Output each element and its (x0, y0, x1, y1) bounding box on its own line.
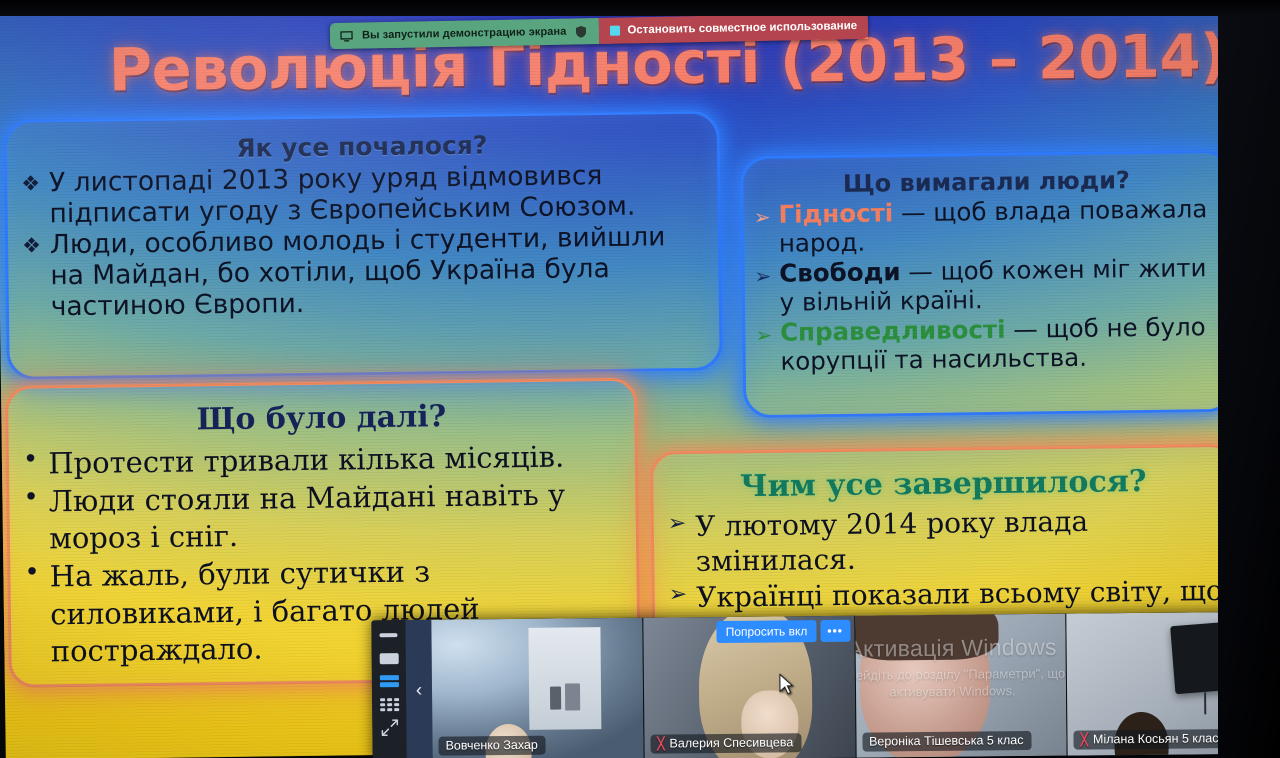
participant-name: Вероніка Тішевська 5 клас (869, 733, 1024, 748)
list-item: ❖ У листопаді 2013 року уряд відмовився … (17, 159, 704, 230)
diamond-bullet-icon: ❖ (22, 233, 41, 258)
filmstrip-previous-button[interactable]: ‹ (405, 620, 432, 758)
box4-item-text: Українці показали всьому світу, що (696, 572, 1225, 614)
arrow-bullet-icon: ➢ (668, 510, 687, 538)
dot-bullet-icon: • (23, 481, 39, 515)
participant-hover-controls: Попросить вкл ••• (717, 620, 851, 643)
list-item: ➢ У лютому 2014 року влада змінилася. (660, 502, 1225, 580)
box4-body: ➢ У лютому 2014 року влада змінилася. ➢ … (660, 502, 1225, 615)
participant-nameplate: Вовченко Захар (438, 736, 545, 756)
split-view-icon[interactable] (379, 675, 399, 687)
participant-tile[interactable]: Активація Windows Перейдіть до розділу "… (855, 614, 1068, 758)
dot-bullet-icon: • (24, 557, 40, 591)
content-box-demands: Що вимагали люди? ➢ Гідності — щоб влада… (740, 150, 1235, 418)
video-background-tv (1170, 621, 1251, 695)
box2-item-text: Справедливості — щоб не було корупції та… (780, 312, 1222, 377)
participant-nameplate: ╳ Валерия Спесивцева (650, 733, 801, 753)
mic-muted-icon: ╳ (657, 738, 664, 750)
speaker-view-icon[interactable] (379, 652, 399, 664)
video-background-detail (550, 687, 561, 710)
box2-item-text: Свободи — щоб кожен міг жити у вільній к… (779, 253, 1221, 318)
list-item: ❖ Люди, особливо молодь і студенти, вийш… (18, 221, 705, 323)
zoom-video-filmstrip: ‹ Вовченко Захар Попросить вкл ••• (371, 612, 1278, 758)
list-item: • Люди стояли на Майдані навіть у мороз … (17, 476, 624, 559)
participant-nameplate: Вероніка Тішевська 5 клас (862, 731, 1032, 752)
mic-muted-icon: ╳ (1081, 733, 1088, 745)
keyword-dignity: Гідності (778, 198, 893, 228)
participant-name: Вовченко Захар (445, 738, 537, 753)
participant-tile[interactable]: ╳ Мілана Косьян 5 клас (1067, 612, 1279, 756)
sharing-status: Вы запустили демонстрацию экрана (330, 18, 600, 49)
stop-square-icon (610, 26, 620, 36)
gallery-view-icon[interactable] (379, 698, 399, 710)
content-box-how-it-started: Як усе почалося? ❖ У листопаді 2013 року… (3, 111, 722, 380)
box3-heading: Що було далі? (8, 397, 634, 440)
list-item: ➢ Справедливості — щоб не було корупції … (751, 312, 1222, 377)
participant-nameplate: ╳ Мілана Косьян 5 клас (1074, 729, 1227, 749)
video-person-hair (855, 614, 999, 662)
screen-share-icon (340, 30, 353, 41)
video-background-detail (1253, 680, 1273, 740)
diamond-bullet-icon: ❖ (21, 171, 40, 196)
participant-name: Мілана Косьян 5 клас (1093, 731, 1219, 746)
expand-arrows-icon (381, 719, 398, 736)
shield-icon[interactable] (575, 25, 587, 38)
fullscreen-icon[interactable] (379, 721, 399, 733)
box1-item-text: У листопаді 2013 року уряд відмовився пі… (49, 159, 704, 230)
photographed-monitor: Революція Гідності (2013 – 2014) Як усе … (0, 0, 1280, 758)
video-background-detail (1204, 692, 1206, 715)
box2-item-text: Гідності — щоб влада поважала народ. (778, 194, 1220, 259)
more-options-button[interactable]: ••• (820, 620, 850, 642)
box1-body: ❖ У листопаді 2013 року уряд відмовився … (17, 159, 705, 323)
participant-tiles: Вовченко Захар Попросить вкл ••• ╳ Валер… (431, 612, 1278, 758)
keyword-justice: Справедливості (780, 314, 1006, 346)
ask-to-unmute-button[interactable]: Попросить вкл (717, 620, 817, 643)
zoom-view-rail (371, 620, 406, 758)
box3-item-text: Люди стояли на Майдані навіть у мороз і … (49, 476, 625, 559)
video-background-detail (565, 684, 580, 711)
participant-name: Валерия Спесивцева (669, 735, 793, 750)
arrow-bullet-icon: ➢ (754, 205, 771, 229)
keyword-freedom: Свободи (779, 257, 901, 288)
arrow-bullet-icon: ➢ (755, 322, 772, 346)
list-item: ➢ Гідності — щоб влада поважала народ. (750, 194, 1221, 259)
arrow-bullet-icon: ➢ (754, 264, 771, 288)
list-item: ➢ Свободи — щоб кожен міг жити у вільній… (750, 253, 1221, 318)
box2-body: ➢ Гідності — щоб влада поважала народ. ➢… (750, 194, 1222, 376)
list-item: ➢ Українці показали всьому світу, що (661, 572, 1225, 615)
box1-item-text: Люди, особливо молодь і студенти, вийшли… (50, 221, 705, 323)
chevron-left-icon: ‹ (416, 680, 423, 702)
participant-tile[interactable]: Вовченко Захар (431, 618, 644, 758)
dot-bullet-icon: • (23, 443, 39, 477)
stop-share-button[interactable]: Остановить совместное использование (599, 13, 868, 44)
minimize-bar-icon[interactable] (378, 629, 398, 641)
monitor-bezel-top (0, 0, 1280, 16)
sharing-status-label: Вы запустили демонстрацию экрана (362, 26, 567, 42)
stop-share-label: Остановить совместное использование (627, 20, 857, 36)
participant-tile[interactable]: Попросить вкл ••• ╳ Валерия Спесивцева (643, 616, 856, 758)
box4-item-text: У лютому 2014 року влада змінилася. (695, 502, 1224, 579)
arrow-bullet-icon: ➢ (669, 581, 688, 609)
video-background (528, 627, 601, 730)
box4-heading: Чим усе завершилося? (653, 463, 1233, 506)
